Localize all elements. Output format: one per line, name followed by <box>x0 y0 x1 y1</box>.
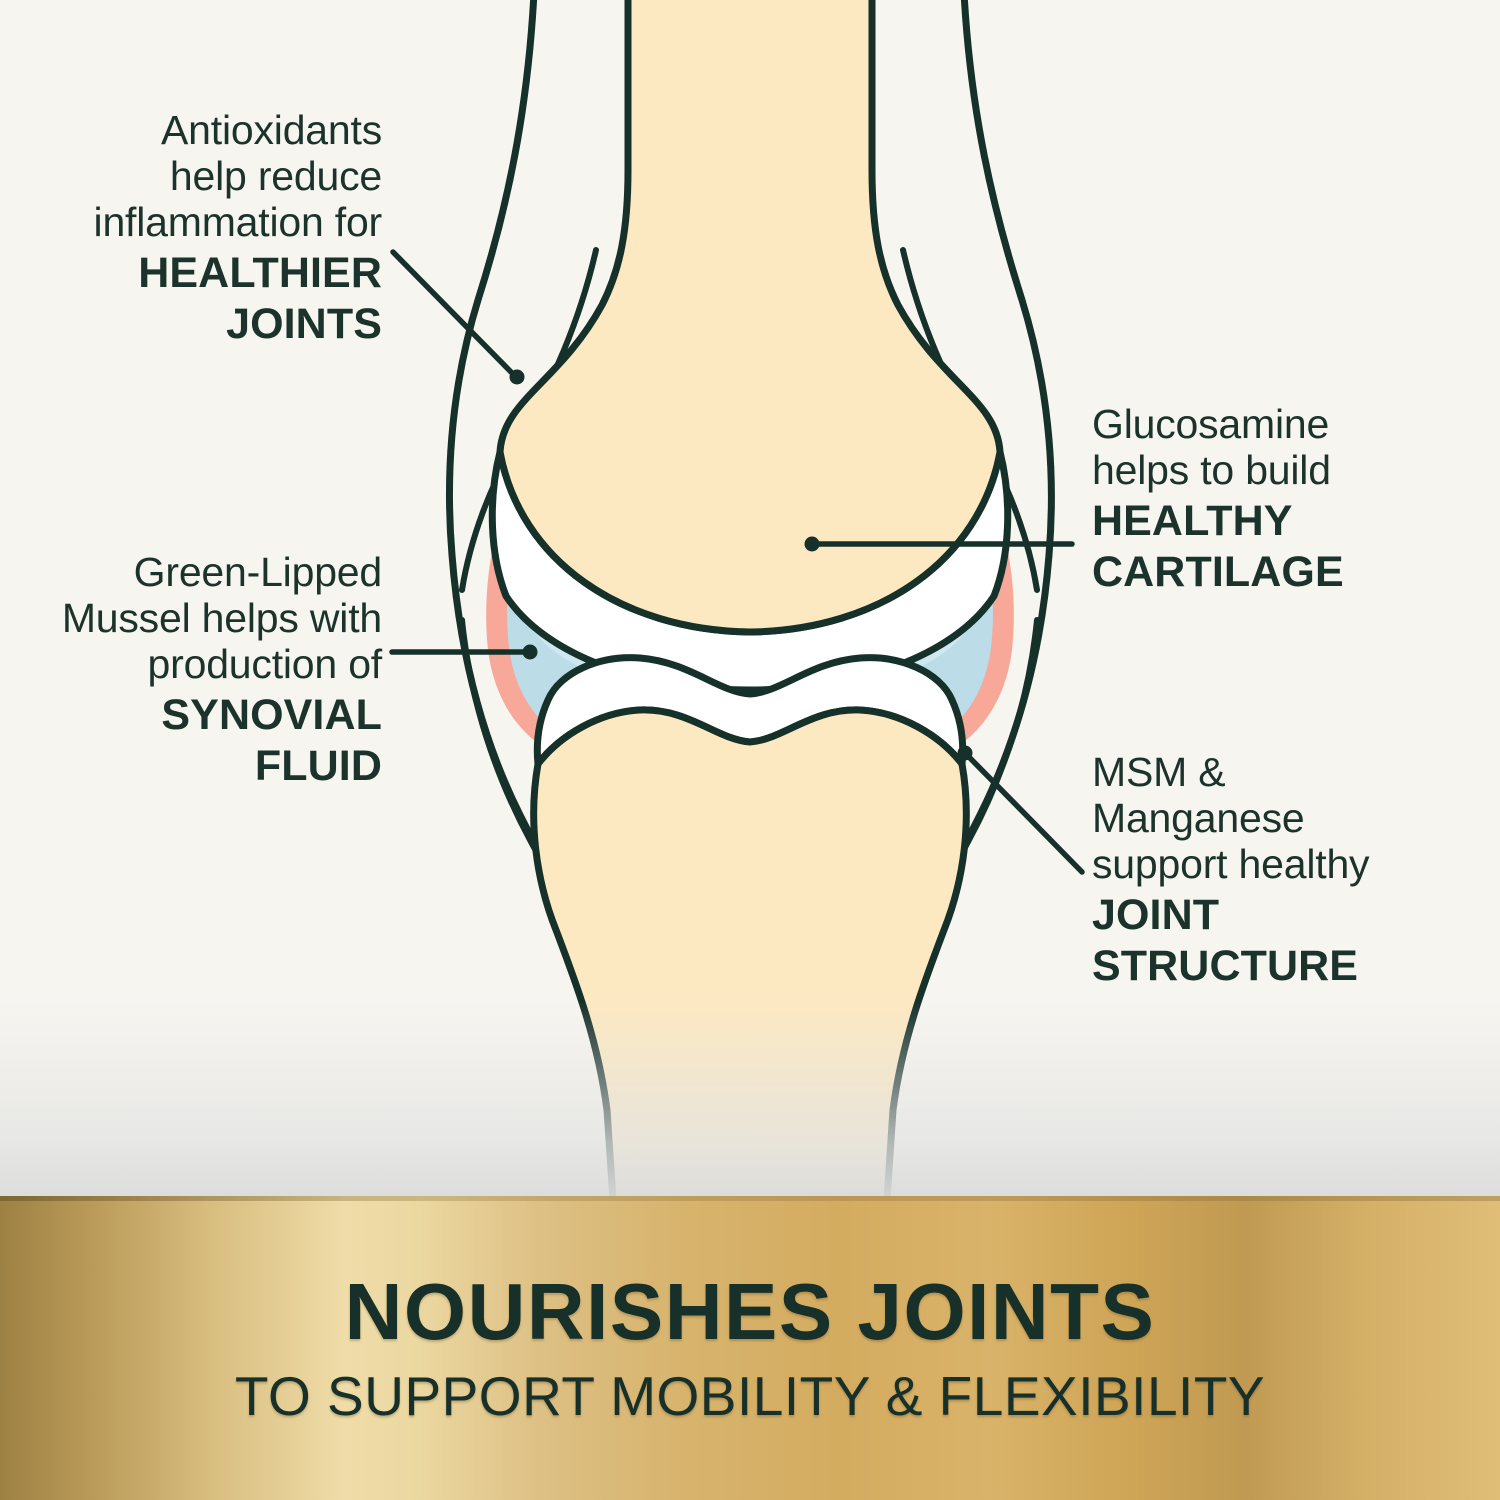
banner-subline: TO SUPPORT MOBILITY & FLEXIBILITY <box>0 1364 1500 1428</box>
callout-msm-line1: MSM & <box>1092 750 1492 796</box>
callout-antioxidants-line3: inflammation for <box>30 200 382 246</box>
callout-msm-line2: Manganese <box>1092 796 1492 842</box>
callout-mussel-line1: Green-Lipped <box>20 550 382 596</box>
callout-mussel-line2: Mussel helps with <box>20 596 382 642</box>
banner-headline: NOURISHES JOINTS <box>0 1266 1500 1358</box>
callout-antioxidants-strong1: HEALTHIER <box>30 249 382 297</box>
joint-health-infographic: Antioxidants help reduce inflammation fo… <box>0 0 1500 1500</box>
callout-msm-strong1: JOINT <box>1092 891 1492 939</box>
gold-banner: NOURISHES JOINTS TO SUPPORT MOBILITY & F… <box>0 1196 1500 1500</box>
callout-antioxidants: Antioxidants help reduce inflammation fo… <box>30 108 382 348</box>
callout-msm-strong2: STRUCTURE <box>1092 942 1492 990</box>
lower-bone <box>534 710 967 1220</box>
callout-antioxidants-strong2: JOINTS <box>30 300 382 348</box>
callout-mussel-line3: production of <box>20 642 382 688</box>
callout-msm-line3: support healthy <box>1092 842 1492 888</box>
callout-mussel-strong2: FLUID <box>20 742 382 790</box>
callout-glucosamine-line2: helps to build <box>1092 448 1492 494</box>
callout-antioxidants-line2: help reduce <box>30 154 382 200</box>
callout-glucosamine-strong1: HEALTHY <box>1092 497 1492 545</box>
callout-glucosamine-line1: Glucosamine <box>1092 402 1492 448</box>
leader-line-msm <box>958 746 1083 873</box>
callout-msm-manganese: MSM & Manganese support healthy JOINT ST… <box>1092 750 1492 990</box>
callout-mussel-strong1: SYNOVIAL <box>20 691 382 739</box>
callout-antioxidants-line1: Antioxidants <box>30 108 382 154</box>
callout-green-lipped-mussel: Green-Lipped Mussel helps with productio… <box>20 550 382 790</box>
callout-glucosamine-strong2: CARTILAGE <box>1092 548 1492 596</box>
callout-glucosamine: Glucosamine helps to build HEALTHY CARTI… <box>1092 402 1492 596</box>
